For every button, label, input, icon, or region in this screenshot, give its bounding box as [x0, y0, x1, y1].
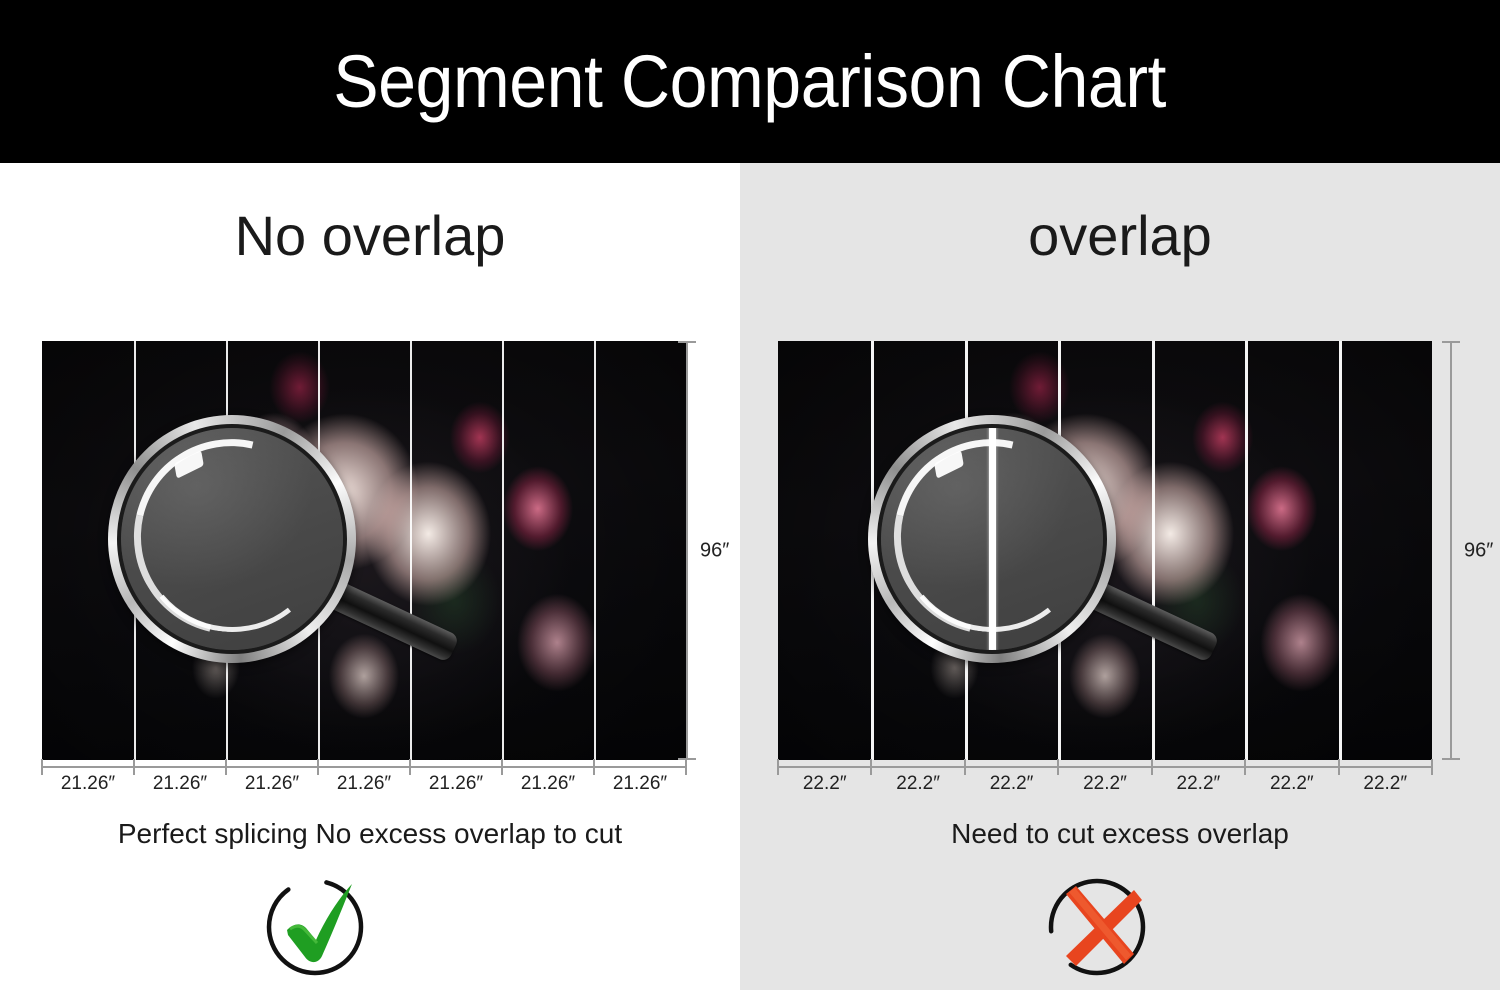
left-segment-labels: 21.26″21.26″21.26″21.26″21.26″21.26″21.2… [42, 773, 686, 795]
left-magnifier [108, 415, 418, 685]
left-width-dimension: 21.26″21.26″21.26″21.26″21.26″21.26″21.2… [42, 766, 686, 806]
dimension-tick [41, 759, 43, 775]
dimension-tick [870, 759, 872, 775]
left-panel-heading: No overlap [0, 208, 740, 264]
segment-width-label: 22.2″ [778, 773, 871, 795]
segment-width-label: 22.2″ [1245, 773, 1338, 795]
segment-width-label: 21.26″ [134, 773, 226, 795]
dimension-tick [225, 759, 227, 775]
dimension-tick [133, 759, 135, 775]
comparison-chart-page: Segment Comparison Chart No overlap over… [0, 0, 1500, 990]
dimension-line [1450, 341, 1452, 760]
dimension-line [42, 766, 686, 768]
right-panel-heading: overlap [740, 208, 1500, 264]
dimension-line [686, 341, 688, 760]
segment-width-label: 21.26″ [594, 773, 686, 795]
dimension-tick [777, 759, 779, 775]
segment-width-label: 21.26″ [42, 773, 134, 795]
right-width-dimension: 22.2″22.2″22.2″22.2″22.2″22.2″22.2″ [778, 766, 1432, 806]
left-caption: Perfect splicing No excess overlap to cu… [0, 820, 740, 848]
segment-width-label: 22.2″ [1058, 773, 1151, 795]
right-height-dimension: 96″ [1442, 341, 1460, 760]
dimension-line [778, 766, 1432, 768]
dimension-tick [1338, 759, 1340, 775]
right-height-label: 96″ [1464, 539, 1493, 562]
dimension-tick [1431, 759, 1433, 775]
left-height-dimension: 96″ [678, 341, 696, 760]
page-title: Segment Comparison Chart [334, 45, 1167, 119]
right-magnifier [868, 415, 1178, 685]
check-icon [260, 872, 370, 982]
dimension-cap [1442, 758, 1460, 760]
dimension-tick [501, 759, 503, 775]
right-caption: Need to cut excess overlap [740, 820, 1500, 848]
dimension-cap [678, 758, 696, 760]
dimension-tick [1151, 759, 1153, 775]
dimension-tick [409, 759, 411, 775]
dimension-tick [1057, 759, 1059, 775]
magnifier-lens-housing [877, 424, 1107, 654]
dimension-tick [317, 759, 319, 775]
segment-width-label: 22.2″ [871, 773, 964, 795]
segment-width-label: 21.26″ [318, 773, 410, 795]
segment-width-label: 22.2″ [965, 773, 1058, 795]
left-height-label: 96″ [700, 539, 729, 562]
cross-icon [1042, 872, 1152, 982]
right-segment-labels: 22.2″22.2″22.2″22.2″22.2″22.2″22.2″ [778, 773, 1432, 795]
magnifier-ring [868, 415, 1116, 663]
header-bar: Segment Comparison Chart [0, 0, 1500, 163]
dimension-tick [964, 759, 966, 775]
segment-width-label: 22.2″ [1339, 773, 1432, 795]
dimension-tick [593, 759, 595, 775]
dimension-tick [1244, 759, 1246, 775]
magnifier-ring [108, 415, 356, 663]
magnifier-lens-housing [117, 424, 347, 654]
segment-width-label: 21.26″ [226, 773, 318, 795]
segment-width-label: 22.2″ [1152, 773, 1245, 795]
segment-width-label: 21.26″ [502, 773, 594, 795]
segment-width-label: 21.26″ [410, 773, 502, 795]
dimension-tick [685, 759, 687, 775]
